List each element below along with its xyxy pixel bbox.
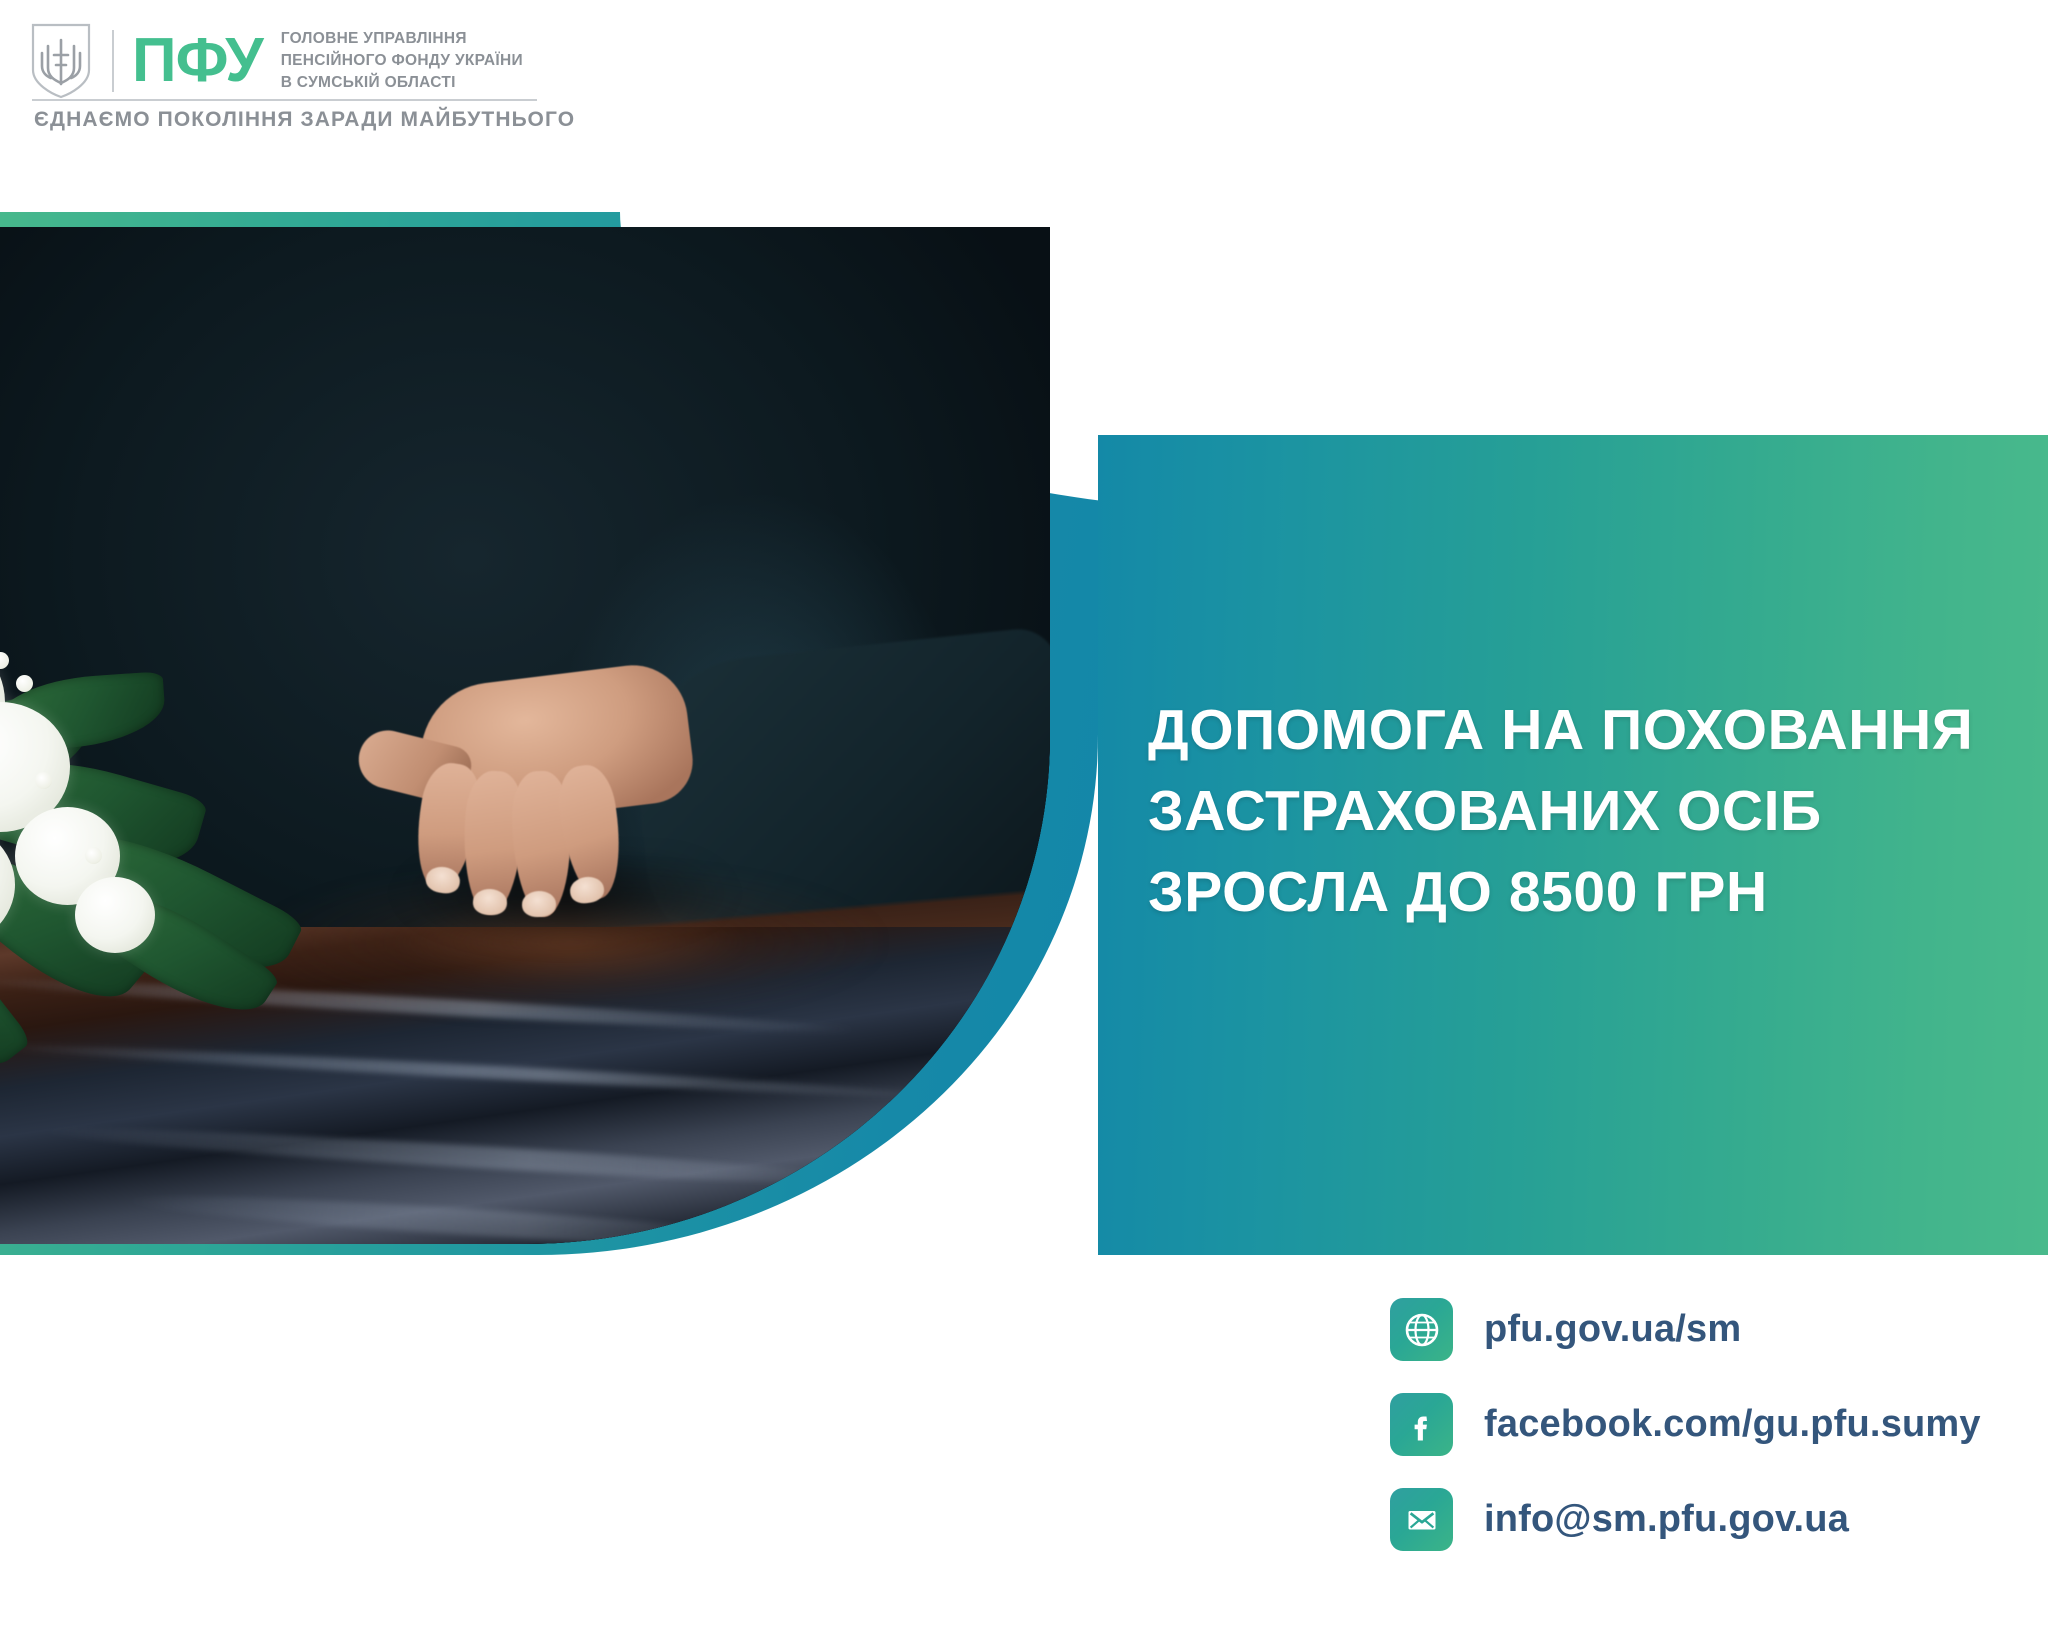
photo-flower-bouquet — [0, 557, 460, 1117]
photo-flower — [75, 877, 155, 953]
contact-row-website[interactable]: pfu.gov.ua/sm — [1390, 1282, 2030, 1377]
poster-canvas: ПФУ ГОЛОВНЕ УПРАВЛІННЯ ПЕНСІЙНОГО ФОНДУ … — [0, 0, 2048, 1628]
headline-line-1: ДОПОМОГА НА ПОХОВАННЯ — [1148, 690, 2048, 771]
tagline-divider — [32, 99, 537, 101]
org-name-line-1: ГОЛОВНЕ УПРАВЛІННЯ — [281, 28, 523, 50]
globe-www-icon — [1390, 1298, 1453, 1361]
photo-gypsophila — [0, 652, 9, 669]
logo-divider — [112, 30, 114, 92]
contact-label-facebook[interactable]: facebook.com/gu.pfu.sumy — [1484, 1403, 1981, 1446]
envelope-mail-icon — [1390, 1488, 1453, 1551]
photo-fingernail — [522, 890, 557, 917]
contact-label-email[interactable]: info@sm.pfu.gov.ua — [1484, 1498, 1849, 1541]
org-name-line-2: ПЕНСІЙНОГО ФОНДУ УКРАЇНИ — [281, 50, 523, 72]
brand-header: ПФУ ГОЛОВНЕ УПРАВЛІННЯ ПЕНСІЙНОГО ФОНДУ … — [0, 0, 600, 180]
facebook-f-icon — [1390, 1393, 1453, 1456]
hero-photo — [0, 227, 1050, 1244]
brand-tagline: ЄДНАЄМО ПОКОЛІННЯ ЗАРАДИ МАЙБУТНЬОГО — [34, 108, 575, 132]
logo-lockup: ПФУ ГОЛОВНЕ УПРАВЛІННЯ ПЕНСІЙНОГО ФОНДУ … — [30, 22, 523, 100]
contact-label-website[interactable]: pfu.gov.ua/sm — [1484, 1308, 1741, 1351]
page-title: ДОПОМОГА НА ПОХОВАННЯ ЗАСТРАХОВАНИХ ОСІБ… — [1148, 690, 2048, 933]
contact-row-email[interactable]: info@sm.pfu.gov.ua — [1390, 1472, 2030, 1567]
headline-line-2: ЗАСТРАХОВАНИХ ОСІБ — [1148, 771, 2048, 852]
organization-name: ГОЛОВНЕ УПРАВЛІННЯ ПЕНСІЙНОГО ФОНДУ УКРА… — [281, 28, 523, 94]
photo-gypsophila — [35, 772, 52, 789]
org-name-line-3: В СУМСЬКІЙ ОБЛАСТІ — [281, 72, 523, 94]
ukraine-trident-shield-icon — [30, 22, 92, 100]
contact-list: pfu.gov.ua/sm facebook.com/gu.pfu.sumy i… — [1390, 1282, 2030, 1567]
headline-line-3: ЗРОСЛА ДО 8500 ГРН — [1148, 852, 2048, 933]
contact-row-facebook[interactable]: facebook.com/gu.pfu.sumy — [1390, 1377, 2030, 1472]
photo-gypsophila — [85, 847, 102, 864]
pfu-abbreviation: ПФУ — [132, 32, 263, 91]
photo-gypsophila — [16, 675, 33, 692]
